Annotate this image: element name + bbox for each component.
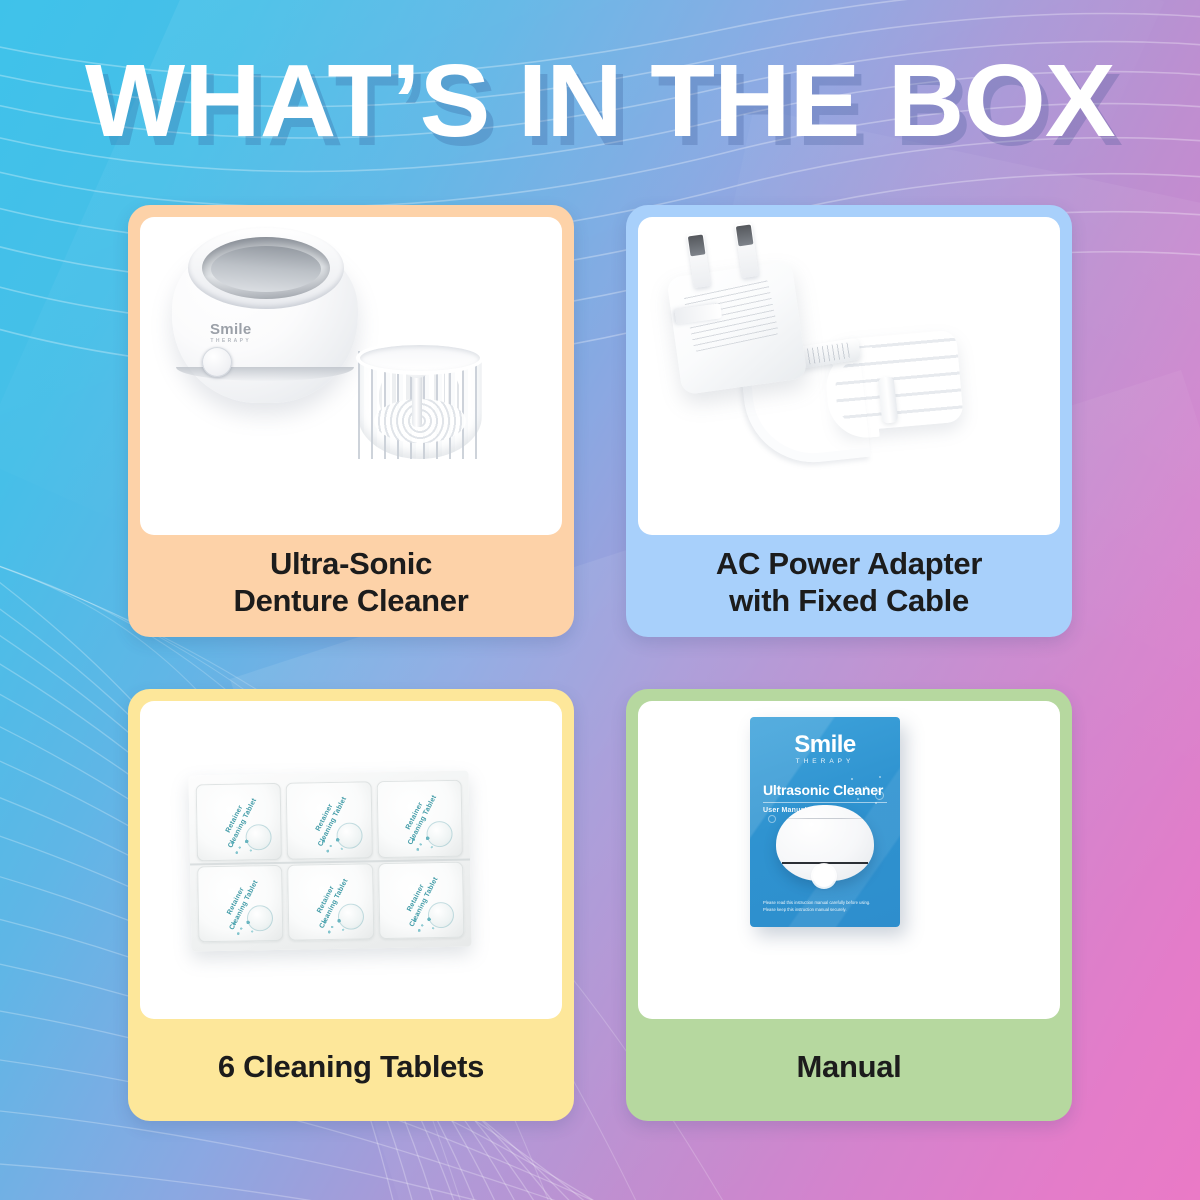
card-caption-text: Ultra-Sonic Denture Cleaner: [234, 546, 469, 619]
cleaner-basin: [202, 237, 330, 299]
tablet-graphic: [246, 824, 272, 850]
denture-cleaner-illustration: Smile THERAPY: [140, 217, 562, 535]
cleaner-brand-subtext: THERAPY: [210, 338, 252, 344]
tablet-graphic: [428, 902, 454, 928]
card-manual[interactable]: Smile THERAPY Ultrasonic Cleaner User Ma…: [626, 689, 1072, 1121]
page-title: WHAT’S IN THE BOX: [85, 48, 1115, 153]
product-photo-power-adapter: [638, 217, 1060, 535]
product-photo-manual: Smile THERAPY Ultrasonic Cleaner User Ma…: [638, 701, 1060, 1019]
uk-plug-body: [666, 261, 807, 395]
tablet-graphic: [426, 820, 452, 846]
product-photo-cleaning-tablets: RetainerCleaning Tablet RetainerCleaning…: [140, 701, 562, 1019]
tablet-cell: RetainerCleaning Tablet: [196, 783, 283, 861]
card-caption-text: AC Power Adapter with Fixed Cable: [716, 546, 982, 619]
card-ultrasonic-denture-cleaner[interactable]: Smile THERAPY Ultra-Sonic Denture C: [128, 205, 574, 637]
cleaning-basket: [354, 345, 486, 469]
tablet-cell: RetainerCleaning Tablet: [197, 864, 284, 942]
card-caption-denture-cleaner: Ultra-Sonic Denture Cleaner: [140, 535, 562, 637]
basket-top-ring: [356, 341, 484, 375]
tablet-graphic: [336, 822, 362, 848]
booklet-brand-subtext: THERAPY: [763, 759, 887, 766]
booklet-brand-text: Smile: [794, 731, 856, 758]
card-caption-cleaning-tablets: 6 Cleaning Tablets: [140, 1019, 562, 1121]
card-cleaning-tablets[interactable]: RetainerCleaning Tablet RetainerCleaning…: [128, 689, 574, 1121]
card-caption-text: Manual: [797, 1049, 902, 1086]
cleaner-power-button: [202, 347, 232, 377]
whats-in-the-box-poster: WHAT’S IN THE BOX Smile THERAPY: [0, 0, 1200, 1200]
card-caption-text: 6 Cleaning Tablets: [218, 1049, 484, 1086]
poster-title-wrap: WHAT’S IN THE BOX: [0, 48, 1200, 153]
tablet-graphic: [247, 905, 273, 931]
booklet-device-button: [813, 865, 835, 887]
power-adapter-illustration: [638, 217, 1060, 535]
booklet-circle-decoration: [875, 791, 884, 800]
manual-illustration: Smile THERAPY Ultrasonic Cleaner User Ma…: [638, 701, 1060, 1019]
card-caption-power-adapter: AC Power Adapter with Fixed Cable: [638, 535, 1060, 637]
cleaner-brand-text: Smile: [210, 321, 252, 338]
product-photo-denture-cleaner: Smile THERAPY: [140, 217, 562, 535]
tablet-cell: RetainerCleaning Tablet: [378, 861, 465, 939]
blister-pack: RetainerCleaning Tablet RetainerCleaning…: [188, 771, 471, 952]
booklet-brand-logo: Smile THERAPY: [763, 733, 887, 766]
tablet-cell: RetainerCleaning Tablet: [286, 781, 373, 859]
tablet-blister-illustration: RetainerCleaning Tablet RetainerCleaning…: [140, 701, 562, 1019]
manual-booklet-cover: Smile THERAPY Ultrasonic Cleaner User Ma…: [750, 717, 900, 927]
card-ac-power-adapter[interactable]: AC Power Adapter with Fixed Cable: [626, 205, 1072, 637]
tablet-graphic: [337, 903, 363, 929]
tablet-cell: RetainerCleaning Tablet: [287, 863, 374, 941]
cleaner-brand-logo: Smile THERAPY: [210, 321, 252, 344]
product-card-grid: Smile THERAPY Ultra-Sonic Denture C: [128, 205, 1072, 1121]
tablet-cell: RetainerCleaning Tablet: [376, 780, 463, 858]
booklet-circle-decoration: [768, 815, 776, 823]
card-caption-manual: Manual: [638, 1019, 1060, 1121]
booklet-footnote: Please read this instruction manual care…: [763, 899, 887, 913]
